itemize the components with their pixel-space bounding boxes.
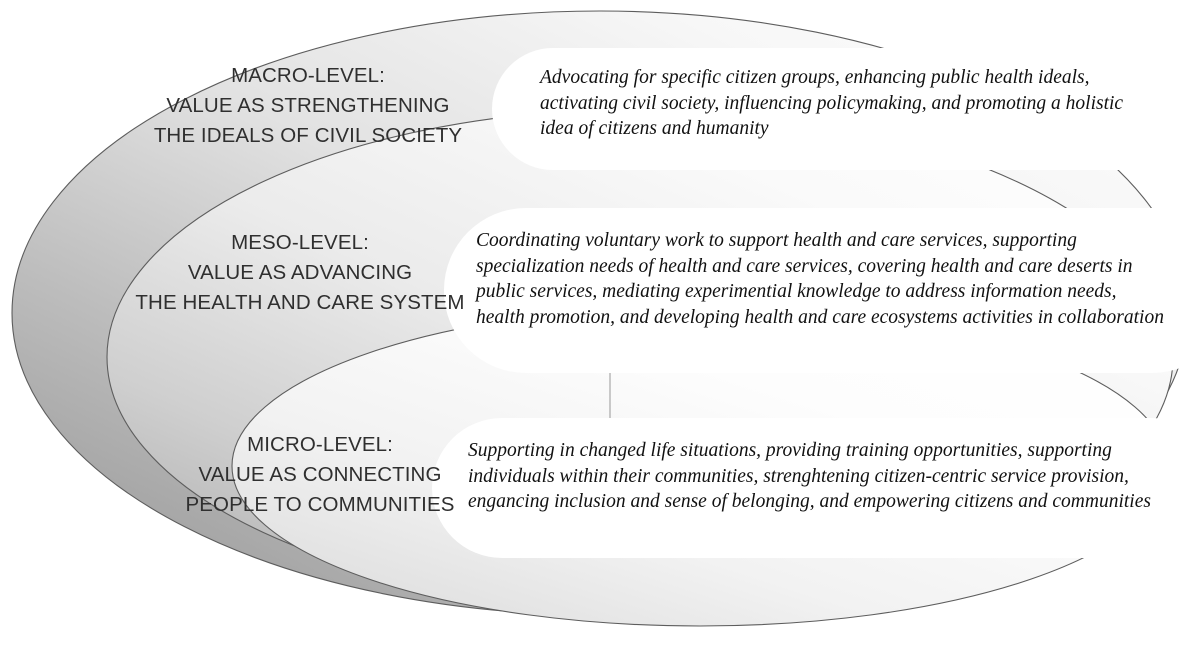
diagram-canvas: MACRO-LEVEL: VALUE AS STRENGTHENING THE … <box>0 0 1200 647</box>
micro-level-description: Supporting in changed life situations, p… <box>468 438 1158 515</box>
meso-level-description: Coordinating voluntary work to support h… <box>476 228 1166 330</box>
macro-level-description: Advocating for specific citizen groups, … <box>540 65 1140 142</box>
